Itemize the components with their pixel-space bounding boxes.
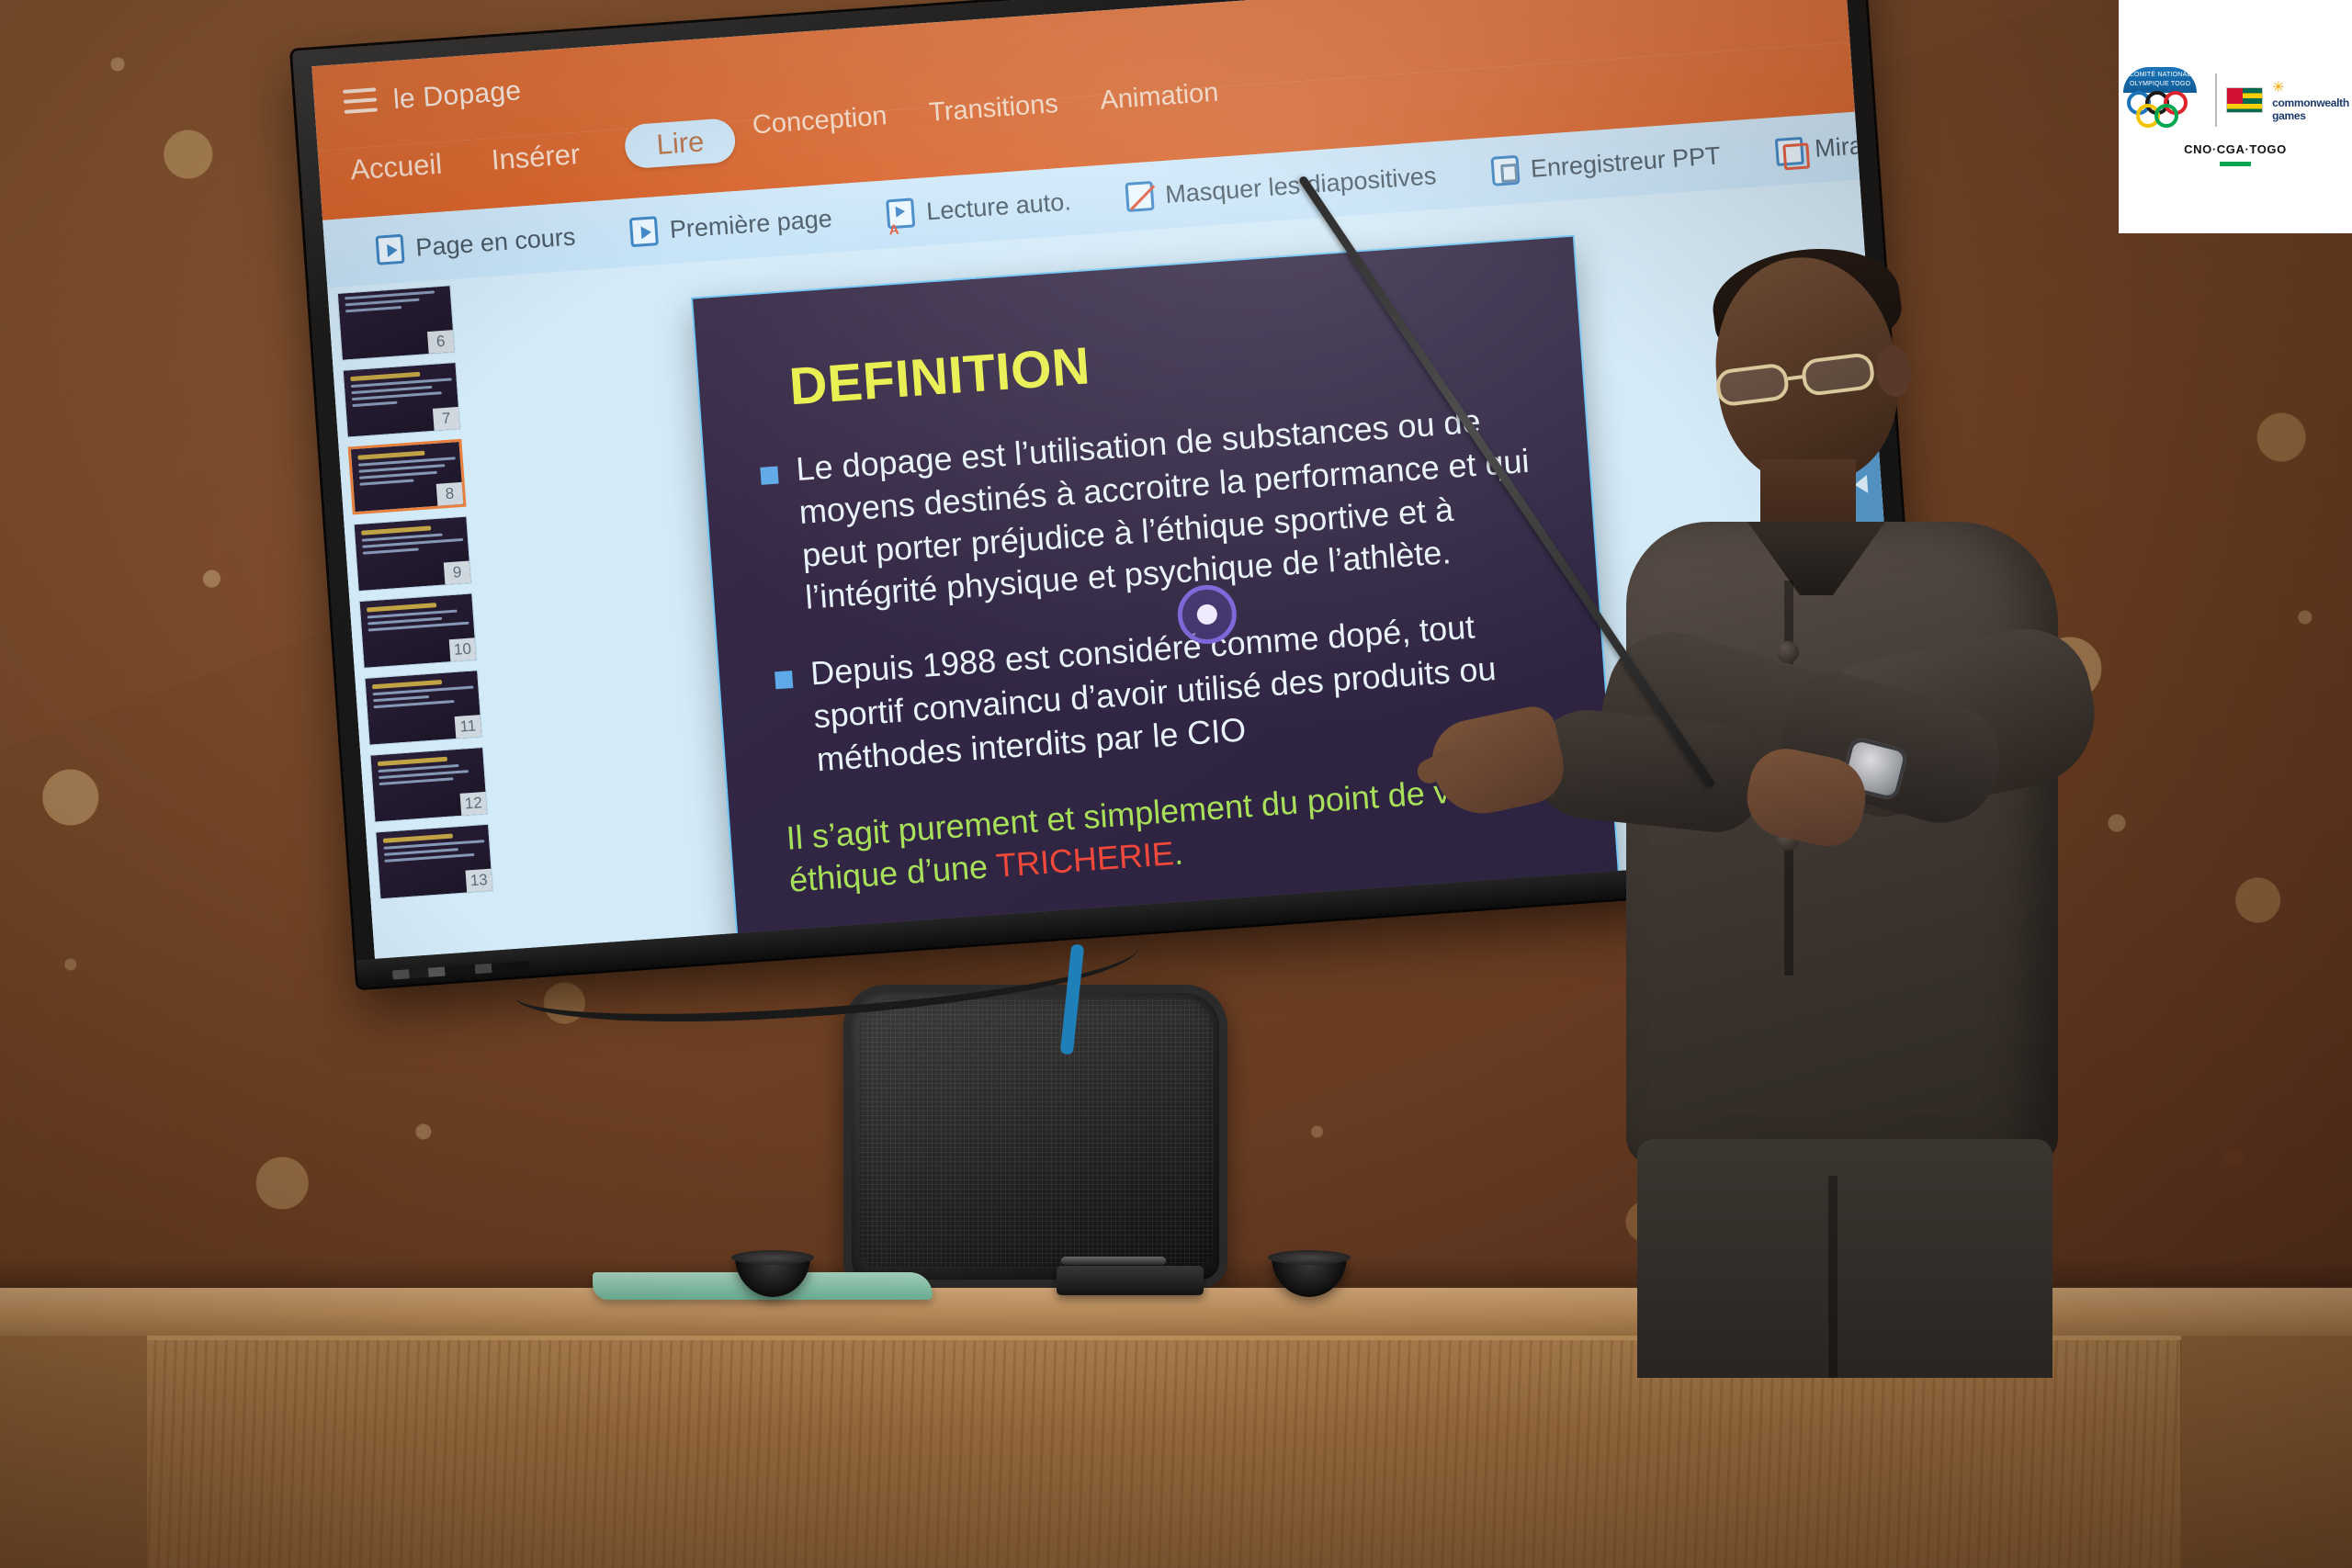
commonwealth-symbol-icon: ✳ (2272, 78, 2349, 96)
togo-flag-icon: ★ (2226, 87, 2263, 113)
presenter-legs (1637, 1139, 2052, 1378)
presenter-button (1777, 641, 1799, 663)
commonwealth-games-wordmark: ✳ commonwealth games (2272, 78, 2349, 122)
overlay-logo: COMITÉ NATIONAL OLYMPIQUE TOGO ★ ✳ commo… (2119, 0, 2352, 233)
commonwealth-line1: commonwealth (2272, 96, 2349, 109)
commonwealth-line2: games (2272, 109, 2349, 122)
logo-green-bar (2220, 162, 2251, 166)
olympic-emblem-icon: COMITÉ NATIONAL OLYMPIQUE TOGO (2121, 67, 2206, 133)
olympic-emblem-text: COMITÉ NATIONAL OLYMPIQUE TOGO (2123, 67, 2197, 93)
logo-caption: CNO·CGA·TOGO (2184, 142, 2287, 156)
presenter (1553, 257, 2122, 1359)
photo-scene: le Dopage Accueil Insérer Lire Conceptio… (0, 0, 2352, 1568)
logo-divider (2215, 73, 2217, 127)
presenter-trouser-seam (1828, 1176, 1837, 1378)
logo-row: COMITÉ NATIONAL OLYMPIQUE TOGO ★ ✳ commo… (2121, 67, 2349, 133)
